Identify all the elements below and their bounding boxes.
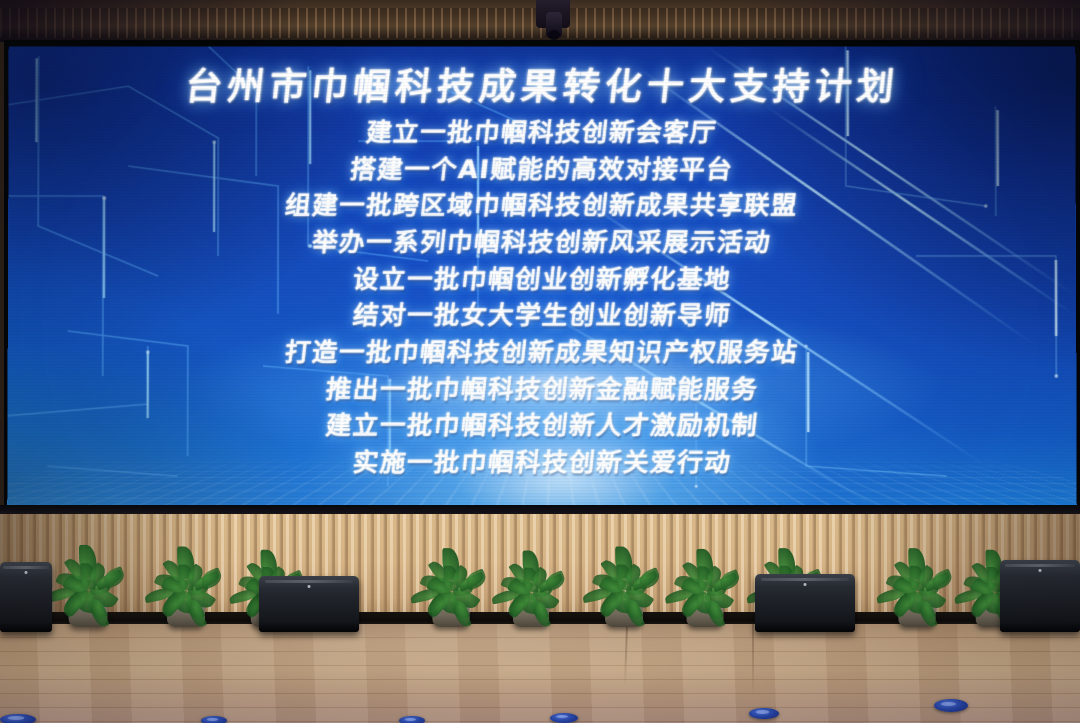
program-item: 建立一批巾帼科技创新会客厅 [365, 116, 719, 151]
stage-monitor-speaker [1000, 560, 1080, 632]
speaker-indicator-dot [25, 571, 28, 574]
program-item: 组建一批跨区域巾帼科技创新成果共享联盟 [284, 189, 800, 224]
stage-monitor-speaker [259, 576, 359, 632]
potted-plant [873, 551, 961, 627]
chair-highlight [556, 715, 568, 718]
program-item: 搭建一个AI赋能的高效对接平台 [349, 153, 736, 188]
plant-foliage [581, 549, 667, 611]
program-item: 建立一批巾帼科技创新人才激励机制 [324, 409, 760, 444]
chair-top [934, 699, 968, 712]
chair-highlight [756, 710, 769, 714]
speaker-indicator-dot [308, 585, 311, 588]
program-item: 举办一系列巾帼科技创新风采展示活动 [311, 226, 774, 261]
potted-plant [140, 549, 232, 627]
camera-lens-icon [548, 30, 560, 40]
potted-plant [578, 549, 670, 627]
chair-top [201, 716, 227, 723]
stage-monitor-speaker [0, 562, 52, 632]
chair-top [0, 714, 36, 723]
potted-plant [41, 547, 135, 627]
chair-top [399, 716, 425, 723]
potted-plant [407, 551, 495, 627]
stage-photo-scene: 台州市巾帼科技成果转化十大支持计划 建立一批巾帼科技创新会客厅 搭建一个AI赋能… [0, 0, 1080, 723]
program-item: 设立一批巾帼创业创新孵化基地 [351, 263, 733, 298]
ceiling-shadow-right [740, 0, 1080, 42]
chair-highlight [941, 702, 956, 706]
plant-foliage [44, 547, 132, 610]
chair-highlight [8, 716, 24, 720]
chair-top [550, 713, 578, 723]
plant-foliage [490, 553, 572, 612]
program-item: 实施一批巾帼科技创新关爱行动 [351, 446, 733, 481]
floor-light-sheen [0, 624, 1080, 723]
speaker-indicator-dot [1039, 569, 1042, 572]
chair-highlight [207, 718, 218, 721]
program-item: 推出一批巾帼科技创新金融赋能服务 [324, 373, 760, 408]
potted-plant [661, 551, 748, 627]
plant-foliage [875, 551, 959, 612]
potted-plant [489, 553, 573, 627]
ceiling-shadow-left [0, 0, 300, 42]
speaker-indicator-dot [804, 583, 807, 586]
slide-content: 台州市巾帼科技成果转化十大支持计划 建立一批巾帼科技创新会客厅 搭建一个AI赋能… [7, 46, 1077, 508]
program-item-list: 建立一批巾帼科技创新会客厅 搭建一个AI赋能的高效对接平台 组建一批跨区域巾帼科… [285, 116, 799, 481]
speaker-base-shadow [0, 622, 52, 632]
program-item: 结对一批女大学生创业创新导师 [351, 299, 733, 334]
speaker-base-shadow [259, 622, 359, 632]
plant-foliage [663, 551, 746, 611]
plant-foliage [143, 549, 229, 611]
stage-monitor-speaker [755, 574, 855, 632]
chair-highlight [405, 718, 416, 721]
program-item: 打造一批巾帼科技创新成果知识产权服务站 [284, 336, 801, 371]
slide-title: 台州市巾帼科技成果转化十大支持计划 [183, 68, 900, 107]
chair-top [749, 708, 779, 719]
speaker-base-shadow [755, 622, 855, 632]
led-screen: 台州市巾帼科技成果转化十大支持计划 建立一批巾帼科技创新会客厅 搭建一个AI赋能… [7, 46, 1077, 508]
plant-foliage [409, 551, 493, 612]
speaker-base-shadow [1000, 622, 1080, 632]
